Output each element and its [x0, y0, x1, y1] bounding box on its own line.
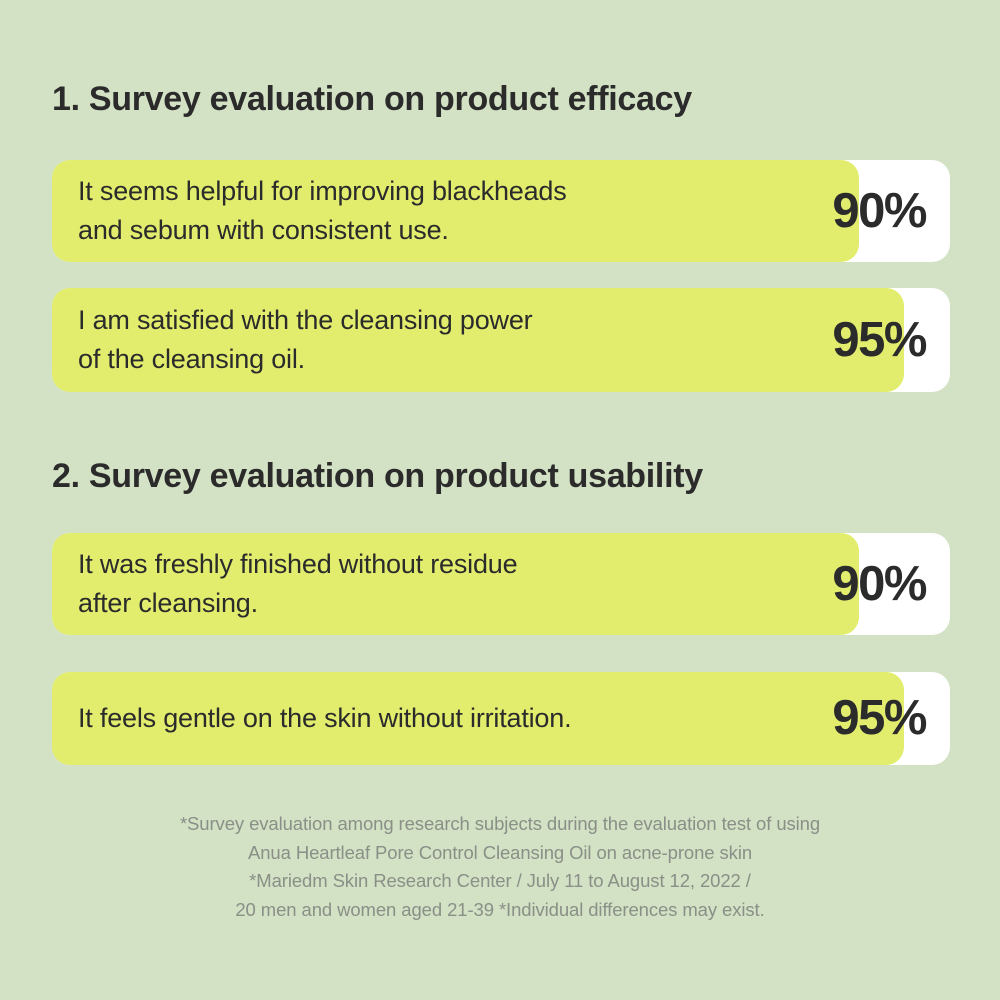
section-heading-usability: 2. Survey evaluation on product usabilit… — [52, 459, 703, 493]
footnote-line-3: *Mariedm Skin Research Center / July 11 … — [0, 867, 1000, 896]
survey-percent-value: 95% — [832, 694, 930, 743]
survey-statement: It feels gentle on the skin without irri… — [78, 699, 822, 738]
survey-bar-row: I am satisfied with the cleansing power … — [52, 288, 950, 392]
survey-results-infographic: 1. Survey evaluation on product efficacy… — [0, 0, 1000, 1000]
survey-bar-row: It seems helpful for improving blackhead… — [52, 160, 950, 262]
survey-percent-value: 90% — [832, 187, 930, 236]
survey-bar-row: It was freshly finished without residue … — [52, 533, 950, 635]
bar-content: It was freshly finished without residue … — [52, 533, 950, 635]
bar-content: It feels gentle on the skin without irri… — [52, 672, 950, 765]
footnote-line-4: 20 men and women aged 21-39 *Individual … — [0, 896, 1000, 925]
survey-statement: It seems helpful for improving blackhead… — [78, 172, 822, 250]
survey-percent-value: 95% — [832, 316, 930, 365]
bar-content: It seems helpful for improving blackhead… — [52, 160, 950, 262]
footnote-line-2: Anua Heartleaf Pore Control Cleansing Oi… — [0, 839, 1000, 868]
section-heading-efficacy: 1. Survey evaluation on product efficacy — [52, 82, 692, 116]
footnote-line-1: *Survey evaluation among research subjec… — [0, 810, 1000, 839]
footnote: *Survey evaluation among research subjec… — [0, 810, 1000, 924]
bar-content: I am satisfied with the cleansing power … — [52, 288, 950, 392]
survey-bar-row: It feels gentle on the skin without irri… — [52, 672, 950, 765]
survey-statement: It was freshly finished without residue … — [78, 545, 822, 623]
survey-percent-value: 90% — [832, 560, 930, 609]
survey-statement: I am satisfied with the cleansing power … — [78, 301, 822, 379]
